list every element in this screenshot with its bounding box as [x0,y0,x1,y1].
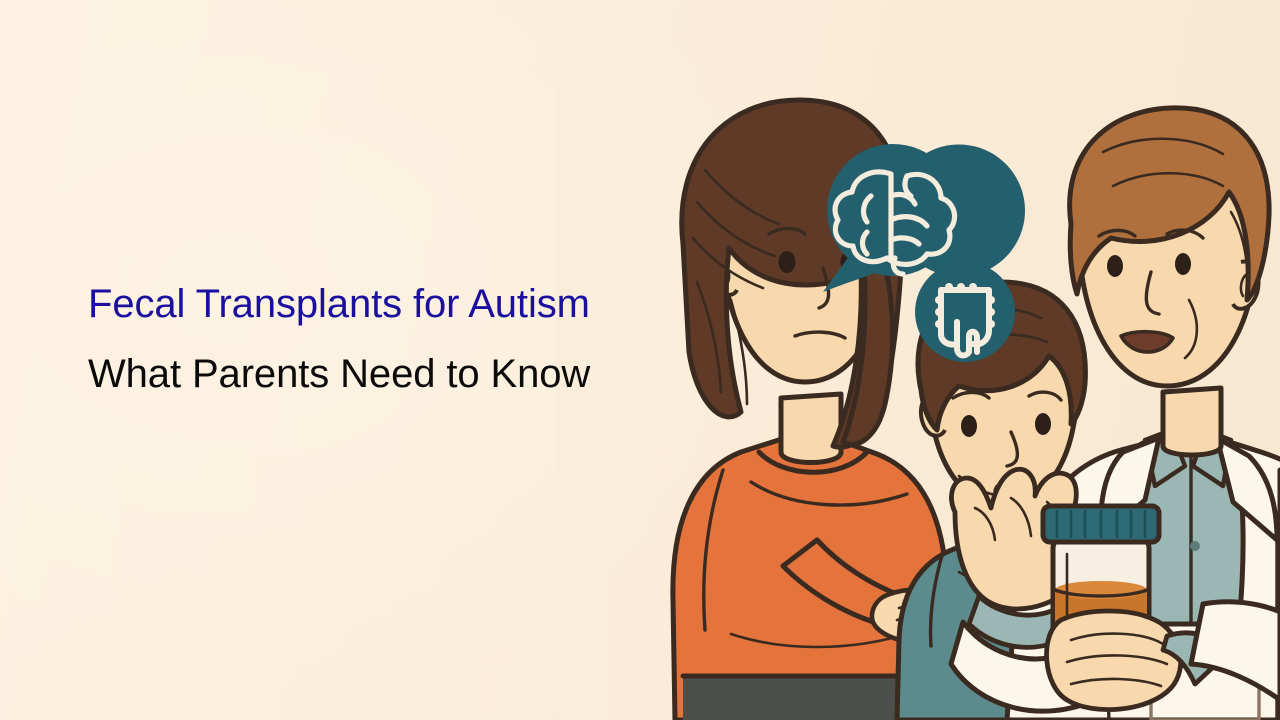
boy-eye-left [961,415,977,437]
article-header-banner: .ol { fill:none; stroke:#3a2a20; stroke-… [0,0,1280,720]
doctor-shirt-button [1190,541,1200,551]
doctor-jar-hand [1047,611,1181,710]
jar-lid-ridges [1057,510,1145,538]
page-subtitle: What Parents Need to Know [88,352,608,396]
illustration-svg: .ol { fill:none; stroke:#3a2a20; stroke-… [555,0,1280,720]
hero-illustration: .ol { fill:none; stroke:#3a2a20; stroke-… [555,0,1280,720]
intestine-icon [915,262,1015,362]
boy-eye-right [1035,413,1051,435]
doctor-neck [1163,388,1221,455]
brain-icon [823,144,1025,292]
headline-block: Fecal Transplants for Autism What Parent… [88,282,608,396]
doctor-eye-right [1175,253,1191,275]
page-title: Fecal Transplants for Autism [88,282,608,326]
intestine-icon-circle [915,262,1015,362]
doctor-eye-left [1107,255,1123,277]
mother-eye-left [779,251,796,273]
mother-neck [781,394,841,463]
